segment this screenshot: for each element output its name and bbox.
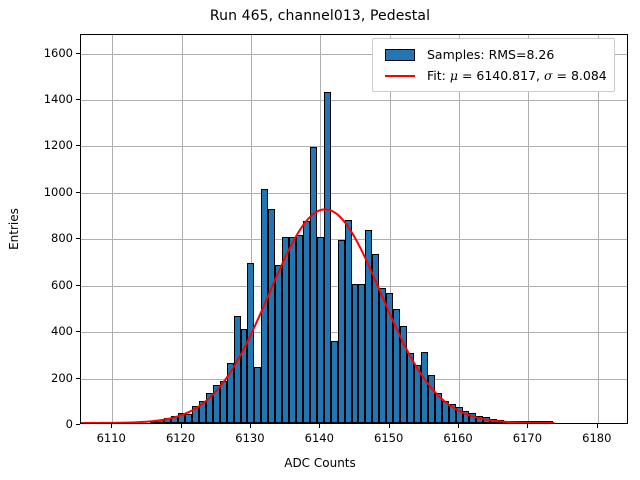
legend-line-icon <box>379 75 421 77</box>
x-tick-label: 6130 <box>235 431 264 445</box>
histogram-bar <box>414 365 421 423</box>
chart-title: Run 465, channel013, Pedestal <box>0 8 640 24</box>
figure-canvas: Run 465, channel013, Pedestal Entries AD… <box>0 0 640 480</box>
histogram-bar <box>428 375 435 423</box>
x-tick-mark <box>319 424 320 428</box>
x-tick-mark <box>111 424 112 428</box>
histogram-bar <box>525 421 532 423</box>
histogram-bar <box>463 411 470 423</box>
legend-fit-text: Fit: <box>427 68 450 83</box>
histogram-bar <box>372 254 379 423</box>
histogram-bar <box>282 237 289 423</box>
histogram-bar <box>303 221 310 423</box>
histogram-bar <box>546 421 553 423</box>
x-tick-label: 6140 <box>305 431 334 445</box>
histogram-bar <box>227 363 234 423</box>
histogram-bar <box>400 326 407 424</box>
y-tick-label: 1400 <box>44 92 73 106</box>
histogram-bar <box>310 147 317 423</box>
histogram-bar <box>254 367 261 423</box>
y-tick-label: 200 <box>51 371 73 385</box>
histogram-bar <box>185 414 192 423</box>
y-tick-label: 600 <box>51 278 73 292</box>
y-tick-label: 0 <box>66 417 73 431</box>
histogram-bar <box>421 352 428 423</box>
histogram-bar <box>199 401 206 423</box>
histogram-bar <box>435 393 442 423</box>
x-tick-label: 6160 <box>443 431 472 445</box>
histogram-bar <box>213 385 220 423</box>
legend-item-fit: Fit: μ = 6140.817, σ = 8.084 <box>379 65 607 86</box>
y-tick-mark <box>76 424 80 425</box>
histogram-bars <box>81 35 627 423</box>
histogram-bar <box>261 189 268 423</box>
x-axis-label: ADC Counts <box>0 456 640 470</box>
histogram-bar <box>338 240 345 423</box>
histogram-bar <box>393 309 400 423</box>
histogram-bar <box>386 293 393 423</box>
x-tick-label: 6110 <box>97 431 126 445</box>
histogram-bar <box>352 284 359 423</box>
histogram-bar <box>379 288 386 423</box>
histogram-bar <box>497 420 504 423</box>
x-tick-mark <box>527 424 528 428</box>
y-tick-label: 400 <box>51 324 73 338</box>
histogram-bar <box>247 263 254 423</box>
histogram-bar <box>532 421 539 423</box>
x-tick-mark <box>250 424 251 428</box>
histogram-bar <box>241 329 248 423</box>
histogram-bar <box>234 316 241 423</box>
histogram-bar <box>268 209 275 423</box>
y-tick-label: 800 <box>51 231 73 245</box>
x-tick-mark <box>458 424 459 428</box>
histogram-bar <box>456 407 463 423</box>
x-tick-label: 6180 <box>582 431 611 445</box>
legend-label-samples: Samples: RMS=8.26 <box>421 47 554 62</box>
histogram-bar <box>358 284 365 423</box>
x-tick-mark <box>181 424 182 428</box>
histogram-bar <box>407 353 414 423</box>
histogram-bar <box>150 421 157 423</box>
x-tick-label: 6120 <box>166 431 195 445</box>
legend-patch-icon <box>379 49 421 61</box>
histogram-bar <box>178 413 185 423</box>
histogram-bar <box>331 341 338 423</box>
histogram-bar <box>469 413 476 423</box>
histogram-bar <box>365 230 372 423</box>
legend-item-samples: Samples: RMS=8.26 <box>379 44 607 65</box>
y-axis-label: Entries <box>7 208 21 250</box>
histogram-bar <box>504 421 511 423</box>
histogram-bar <box>206 393 213 423</box>
y-tick-label: 1600 <box>44 46 73 60</box>
histogram-bar <box>518 421 525 423</box>
histogram-bar <box>164 418 171 423</box>
histogram-bar <box>317 237 324 423</box>
histogram-bar <box>490 419 497 423</box>
histogram-bar <box>324 92 331 423</box>
legend-label-fit: Fit: μ = 6140.817, σ = 8.084 <box>421 68 607 83</box>
plot-area <box>80 34 628 424</box>
y-tick-label: 1200 <box>44 138 73 152</box>
histogram-bar <box>345 220 352 423</box>
histogram-bar <box>275 265 282 423</box>
x-tick-mark <box>597 424 598 428</box>
histogram-bar <box>449 404 456 423</box>
x-tick-label: 6150 <box>374 431 403 445</box>
y-tick-label: 1000 <box>44 185 73 199</box>
histogram-bar <box>289 237 296 423</box>
histogram-bar <box>192 406 199 423</box>
histogram-bar <box>442 401 449 423</box>
x-tick-mark <box>389 424 390 428</box>
histogram-bar <box>157 420 164 423</box>
histogram-bar <box>296 235 303 423</box>
legend-box: Samples: RMS=8.26 Fit: μ = 6140.817, σ =… <box>372 38 615 92</box>
histogram-bar <box>476 416 483 423</box>
histogram-bar <box>220 381 227 423</box>
histogram-bar <box>511 421 518 423</box>
histogram-bar <box>539 421 546 423</box>
histogram-bar <box>483 417 490 423</box>
x-tick-label: 6170 <box>513 431 542 445</box>
histogram-bar <box>171 416 178 423</box>
